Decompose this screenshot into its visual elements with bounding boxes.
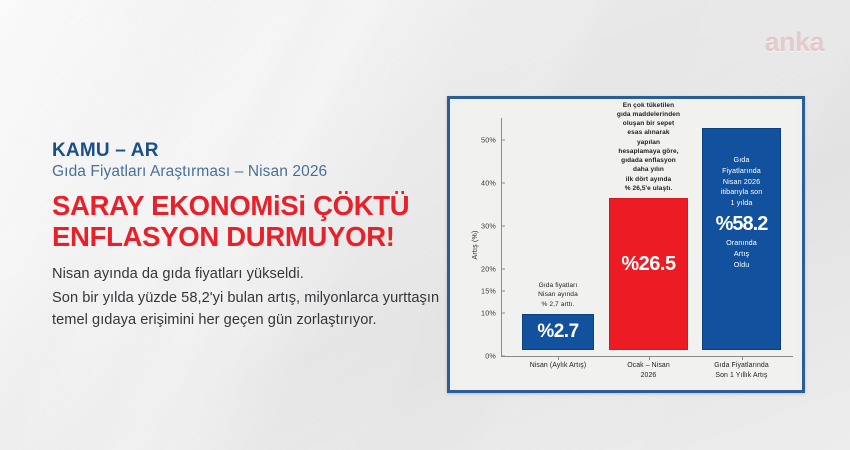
y-axis-tick-mark bbox=[501, 291, 505, 292]
x-axis-tick-mark bbox=[649, 356, 650, 360]
x-axis-label-line: Ocak – Nisan bbox=[600, 361, 697, 371]
anka-logo-watermark: anka bbox=[764, 27, 824, 58]
y-axis-line bbox=[501, 118, 502, 356]
bar-annotation-line: itibarıyla son bbox=[703, 187, 780, 198]
y-axis-tick-label: 10% bbox=[481, 308, 501, 317]
bar-annotation-line: ilk dört ayında bbox=[610, 175, 687, 184]
body-line-3: temel gıdaya erişimini her geçen gün zor… bbox=[52, 309, 442, 331]
body-line-2: Son bir yılda yüzde 58,2'yi bulan artış,… bbox=[52, 287, 442, 309]
y-axis-tick-mark bbox=[501, 139, 505, 140]
x-axis-label: Gıda FiyatlarındaSon 1 Yıllık Artış bbox=[693, 361, 790, 382]
bar-annotation-line: Artış bbox=[703, 249, 780, 260]
x-axis-label-line: Gıda Fiyatlarında bbox=[693, 361, 790, 371]
y-axis-tick-label: 50% bbox=[481, 135, 501, 144]
bar-annotation-line: % 26,5'e ulaştı. bbox=[610, 184, 687, 193]
headline-line-1: SARAY EKONOMiSi ÇÖKTÜ bbox=[52, 191, 442, 222]
y-axis-tick-label: 30% bbox=[481, 222, 501, 231]
x-axis-tick-mark bbox=[558, 356, 559, 360]
bar-above-annotation: En çok tüketilengıda maddelerindenoluşan… bbox=[610, 101, 687, 193]
brand-title: KAMU – AR bbox=[52, 140, 442, 162]
bar-annotation-line: Gıda bbox=[703, 155, 780, 166]
bar-value-label: %58.2 bbox=[703, 212, 780, 236]
brand-subtitle: Gıda Fiyatları Araştırması – Nisan 2026 bbox=[52, 163, 442, 182]
bar-value-label: %26.5 bbox=[610, 253, 687, 276]
bar-inside-annotation: GıdaFiyatlarındaNisan 2026itibarıyla son… bbox=[703, 155, 780, 271]
x-axis-line bbox=[501, 356, 793, 357]
bar-above-annotation: Gıda fiyatlarıNisan ayında% 2,7 arttı. bbox=[523, 281, 593, 309]
bar-annotation-line: Oldu bbox=[703, 260, 780, 271]
headline-line-2: ENFLASYON DURMUYOR! bbox=[52, 222, 442, 253]
bar-annotation-line: % 2,7 arttı. bbox=[523, 300, 593, 309]
bar-annotation-line: Fiyatlarında bbox=[703, 166, 780, 177]
bar-2[interactable]: %26.5En çok tüketilengıda maddelerindeno… bbox=[609, 198, 688, 350]
bar-value-label: %2.7 bbox=[523, 321, 593, 343]
bar-annotation-line: oluşan bir sepet bbox=[610, 119, 687, 128]
bar-annotation-line: daha yılın bbox=[610, 165, 687, 174]
y-axis-tick-label: 40% bbox=[481, 178, 501, 187]
bar-annotation-line: Gıda fiyatları bbox=[523, 281, 593, 290]
y-axis-tick-mark bbox=[501, 226, 505, 227]
bar-annotation-line: En çok tüketilen bbox=[610, 101, 687, 110]
y-axis-title: Artış (%) bbox=[472, 230, 479, 259]
bar-3[interactable]: GıdaFiyatlarındaNisan 2026itibarıyla son… bbox=[702, 128, 781, 350]
bar-annotation-line: gıda maddelerinden bbox=[610, 110, 687, 119]
bar-annotation-line: Oranında bbox=[703, 238, 780, 249]
bar-annotation-line: hesaplamaya göre, bbox=[610, 147, 687, 156]
x-axis-label: Nisan (Aylık Artış) bbox=[509, 361, 606, 371]
bar-annotation-line: Nisan ayında bbox=[523, 290, 593, 299]
x-axis-label-line: Son 1 Yıllık Artış bbox=[693, 371, 790, 381]
chart-card: Artış (%) 50%40%30%20%15%10%0% %2.7Gıda … bbox=[447, 96, 805, 393]
y-axis-tick-mark bbox=[501, 269, 505, 270]
bar-annotation-line: esas alınarak bbox=[610, 128, 687, 137]
y-axis-tick-mark bbox=[501, 182, 505, 183]
poster-canvas: anka KAMU – AR Gıda Fiyatları Araştırmas… bbox=[0, 0, 850, 450]
body-line-1: Nisan ayında da gıda fiyatları yükseldi. bbox=[52, 263, 442, 285]
y-axis-tick-label: 20% bbox=[481, 265, 501, 274]
y-axis-tick-mark bbox=[501, 356, 505, 357]
x-axis-tick-mark bbox=[742, 356, 743, 360]
left-text-panel: KAMU – AR Gıda Fiyatları Araştırması – N… bbox=[52, 140, 442, 332]
x-axis-label: Ocak – Nisan2026 bbox=[600, 361, 697, 382]
x-axis-label-line: 2026 bbox=[600, 371, 697, 381]
y-axis-tick-label: 0% bbox=[485, 352, 501, 361]
y-axis-tick-label: 15% bbox=[481, 287, 501, 296]
chart-plot-area: Artış (%) 50%40%30%20%15%10%0% %2.7Gıda … bbox=[455, 104, 797, 385]
bar-annotation-line: gıdada enflasyon bbox=[610, 156, 687, 165]
x-axis-label-line: Nisan (Aylık Artış) bbox=[509, 361, 606, 371]
bar-annotation-line: yapılan bbox=[610, 138, 687, 147]
y-axis-tick-mark bbox=[501, 312, 505, 313]
plot-wrap: Artış (%) 50%40%30%20%15%10%0% %2.7Gıda … bbox=[455, 104, 797, 385]
bar-annotation-line: 1 yılda bbox=[703, 198, 780, 209]
bar-annotation-line: Nisan 2026 bbox=[703, 177, 780, 188]
bar-1[interactable]: %2.7Gıda fiyatlarıNisan ayında% 2,7 artt… bbox=[522, 314, 594, 350]
